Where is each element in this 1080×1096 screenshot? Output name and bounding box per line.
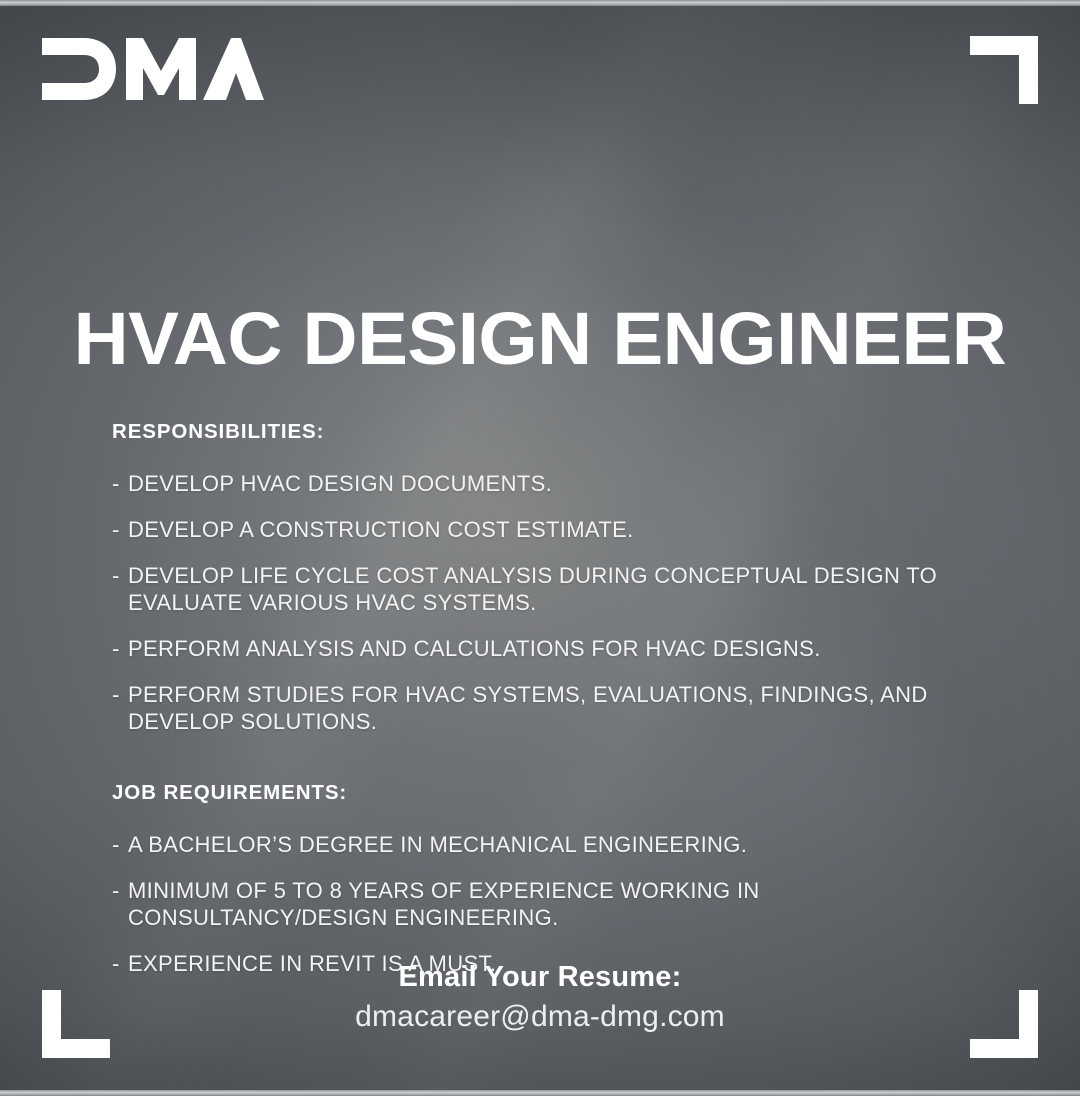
responsibilities-list: DEVELOP HVAC DESIGN DOCUMENTS. DEVELOP A…	[112, 470, 968, 735]
corner-bracket-top-right-icon	[970, 36, 1038, 104]
email-resume-heading: Email Your Resume:	[0, 961, 1080, 994]
list-item: PERFORM STUDIES FOR HVAC SYSTEMS, EVALUA…	[112, 681, 968, 735]
bottom-edge-strip	[0, 1090, 1080, 1096]
job-posting-poster: HVAC DESIGN ENGINEER RESPONSIBILITIES: D…	[0, 0, 1080, 1096]
corner-bracket-bottom-right-icon	[970, 990, 1038, 1058]
job-requirements-heading: JOB REQUIREMENTS:	[112, 781, 968, 805]
job-requirements-list: A BACHELOR’S DEGREE IN MECHANICAL ENGINE…	[112, 831, 968, 977]
contact-email[interactable]: dmacareer@dma-dmg.com	[0, 1000, 1080, 1034]
responsibilities-heading: RESPONSIBILITIES:	[112, 420, 968, 444]
dma-logo	[42, 38, 264, 100]
page-title: HVAC DESIGN ENGINEER	[0, 302, 1080, 376]
list-item: DEVELOP HVAC DESIGN DOCUMENTS.	[112, 470, 968, 497]
contact-footer: Email Your Resume: dmacareer@dma-dmg.com	[0, 961, 1080, 1034]
top-edge-strip	[0, 0, 1080, 6]
list-item: MINIMUM OF 5 TO 8 YEARS OF EXPERIENCE WO…	[112, 877, 968, 931]
job-details: RESPONSIBILITIES: DEVELOP HVAC DESIGN DO…	[112, 420, 968, 978]
list-item: A BACHELOR’S DEGREE IN MECHANICAL ENGINE…	[112, 831, 968, 858]
list-item: DEVELOP A CONSTRUCTION COST ESTIMATE.	[112, 516, 968, 543]
corner-bracket-bottom-left-icon	[42, 990, 110, 1058]
list-item: PERFORM ANALYSIS AND CALCULATIONS FOR HV…	[112, 635, 968, 662]
list-item: DEVELOP LIFE CYCLE COST ANALYSIS DURING …	[112, 562, 968, 616]
